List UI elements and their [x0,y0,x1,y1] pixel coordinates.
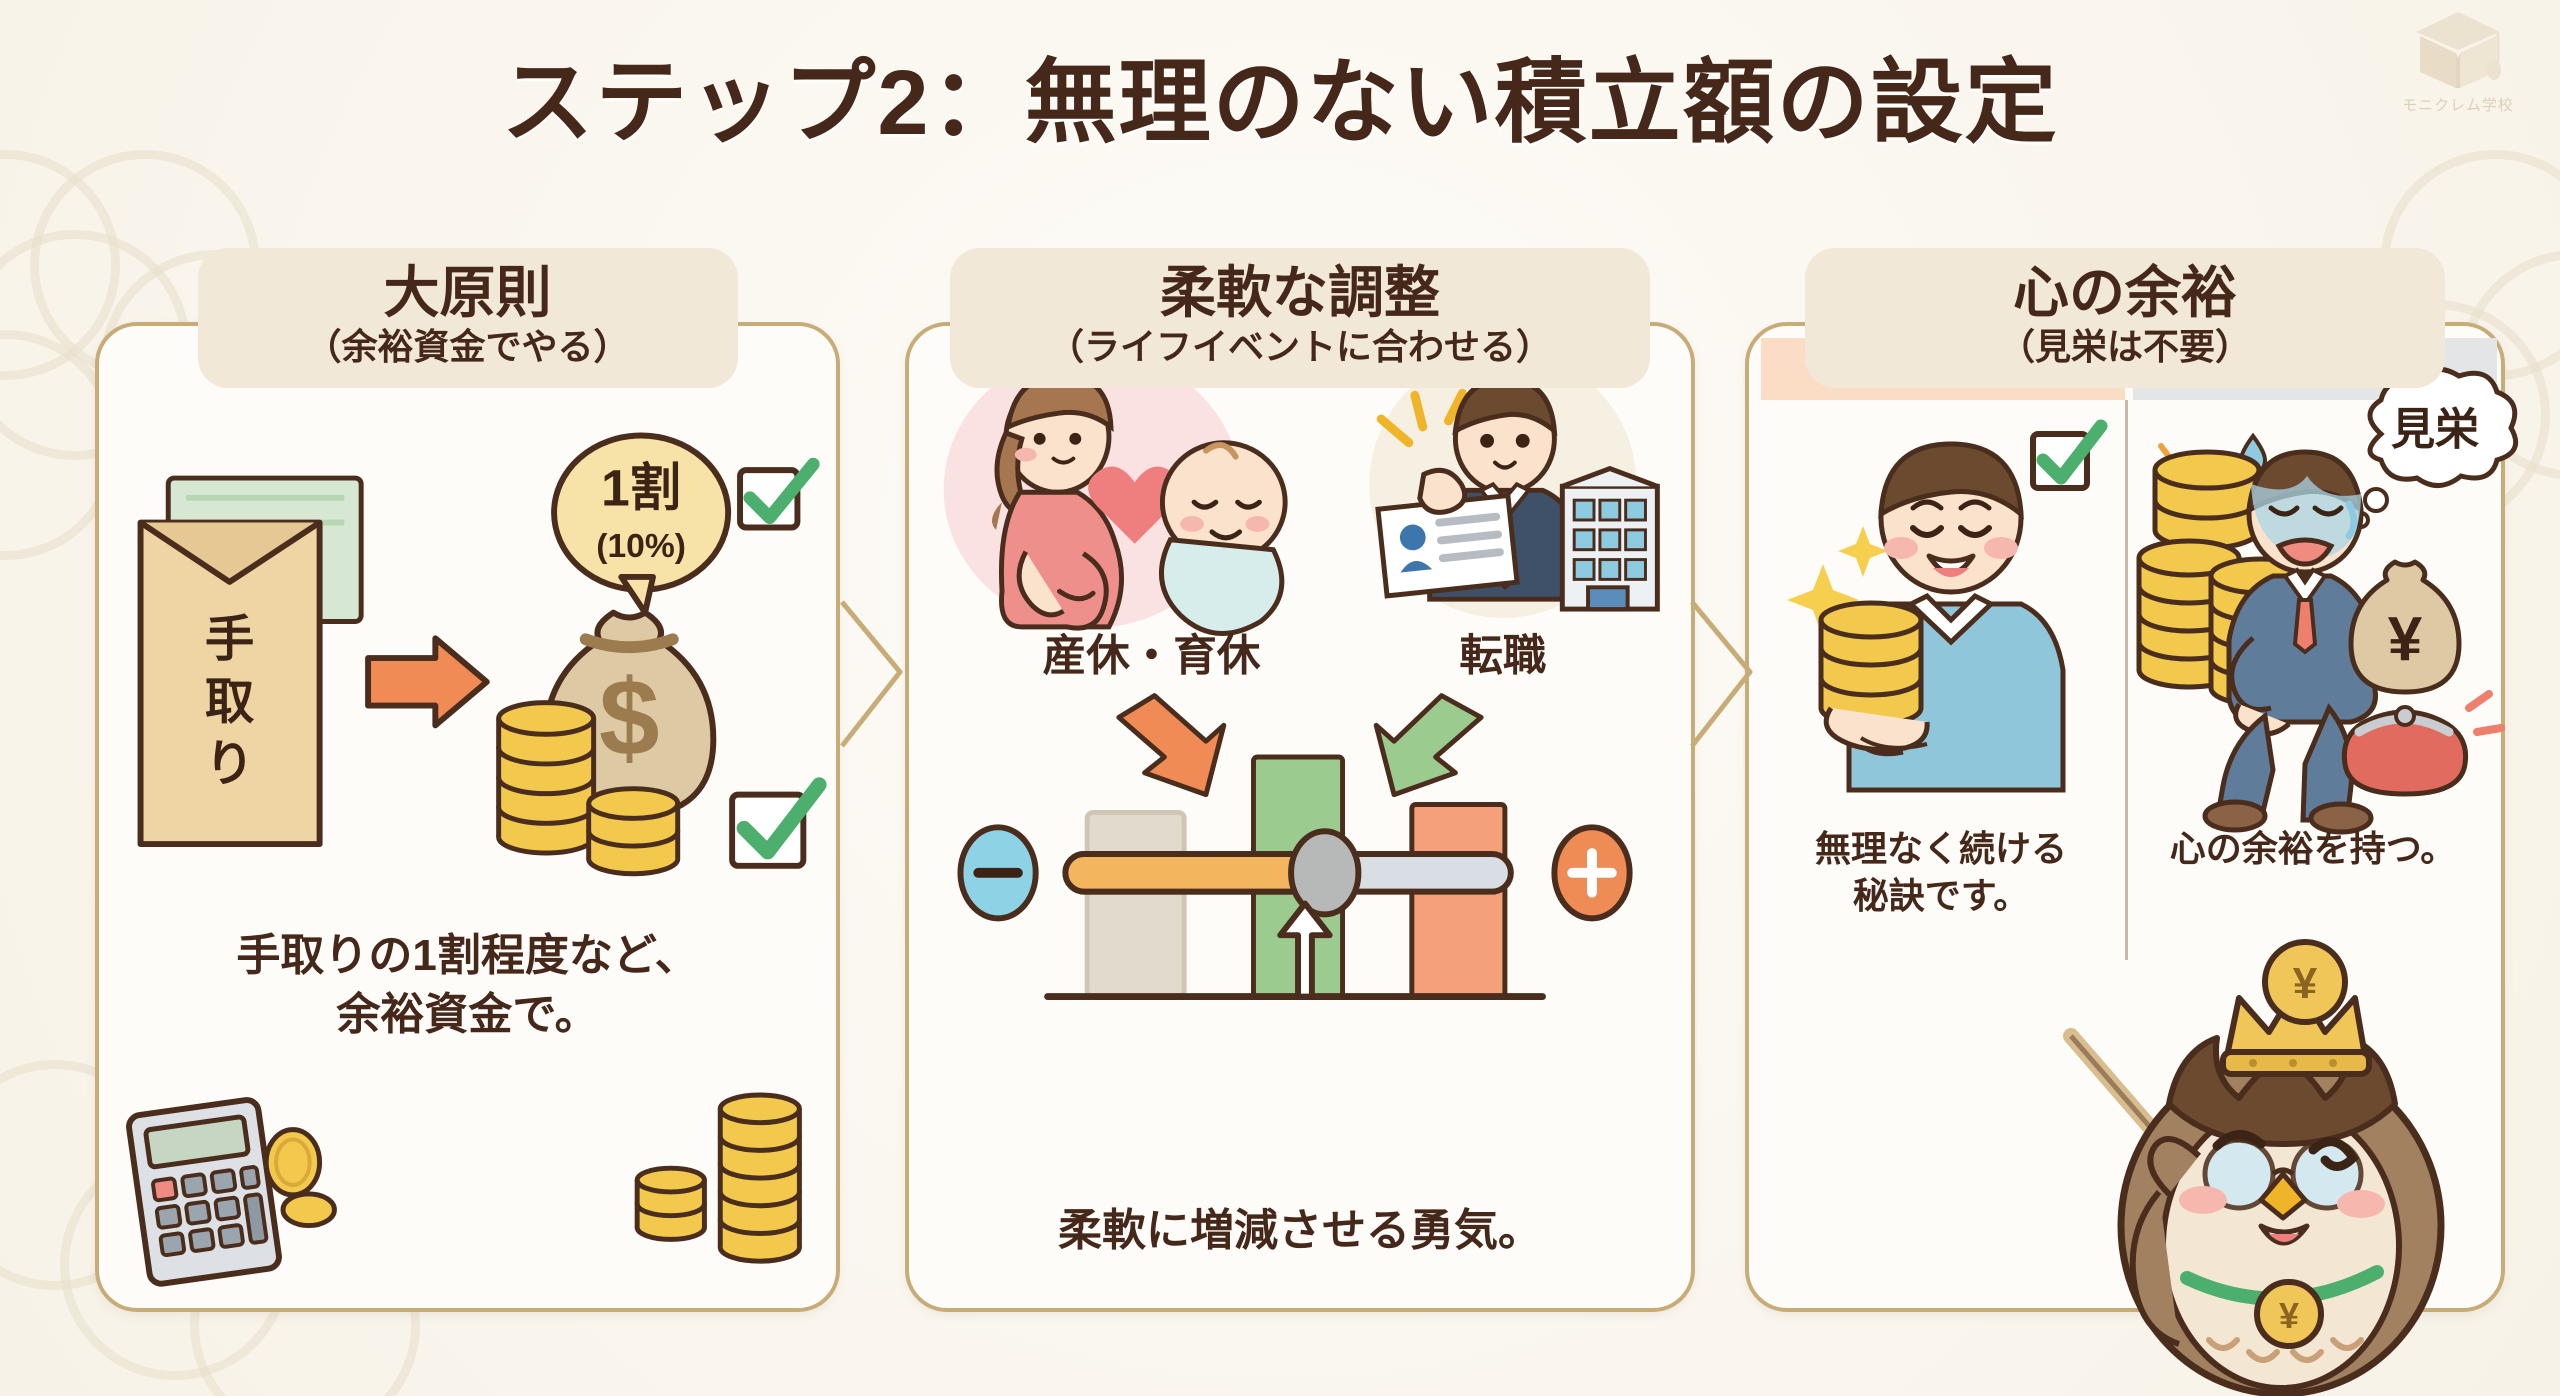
orange-arrow-icon [368,638,487,725]
bubble-sub-text: (10%) [596,528,686,565]
connector-arrow-2 [1690,600,1760,750]
check-box-icon [740,464,813,527]
table-divider [2125,400,2128,960]
graduation-cap-book-icon [2410,6,2506,92]
green-down-arrow-icon [1376,696,1481,795]
table-caption-ng: 心の余裕を持つ。 [2137,826,2489,873]
adjustment-slider-chart [909,686,1691,1026]
percentage-speech-bubble: 1割 (10%) [554,436,728,613]
minus-button[interactable] [960,827,1035,918]
illustration-ok [1761,408,2125,828]
card-peace-title: 心の余裕 [1845,264,2405,323]
card-flexible: 柔軟な調整 （ライフイベントに合わせる） 産 [905,322,1695,1312]
illustration-ng: 見栄 [2133,408,2497,828]
connector-arrow-1 [840,600,910,750]
baby-icon [1161,443,1285,634]
bubble-main-text: 1割 [601,459,681,517]
loose-coin-icon [266,1130,334,1226]
card-peace-header: 心の余裕 （見栄は不要） [1805,248,2445,388]
card-principle-footer-icons [99,1080,836,1290]
card-principle: 大原則 （余裕資金でやる） 手 取 り 1割 (10%) [95,322,840,1312]
card-principle-illustration: 手 取 り 1割 (10%) $ [99,426,836,906]
svg-text:¥: ¥ [2388,605,2423,674]
card-peace-of-mind: 心の余裕 （見栄は不要） ○ 無理のない範囲 × 見栄を張る [1745,322,2505,1312]
check-box-icon-2 [732,785,819,866]
crown-coin-symbol: ¥ [2293,959,2318,1008]
card-peace-subtitle: （見栄は不要） [1845,325,2405,368]
bag-symbol: $ [599,657,660,779]
envelope-with-cash-icon: 手 取 り [141,478,362,844]
bar-decrease [1412,805,1505,997]
page-title: ステップ2：無理のない積立額の設定 [0,28,2560,161]
life-event-label-left: 産休・育休 [1043,632,1261,680]
bar-current [1087,812,1184,996]
plus-button[interactable] [1554,827,1629,918]
card-principle-caption: 手取りの1割程度など、 余裕資金で。 [99,926,836,1045]
crowned-owl-teacher-icon: ¥ ¥ [2041,926,2511,1396]
card-principle-header: 大原則 （余裕資金でやる） [198,248,738,388]
logo-text: モニクレム学校 [2398,94,2518,115]
svg-text:取: 取 [205,674,255,729]
thought-bubble-text: 見栄 [2391,405,2479,454]
smiling-man-with-coins-icon [1821,444,2063,790]
money-bag-yen-icon: ¥ [2351,562,2459,692]
card-flexible-subtitle: （ライフイベントに合わせる） [990,325,1610,368]
card-principle-title: 大原則 [238,264,698,323]
life-event-label-right: 転職 [1459,632,1546,680]
card-flexible-life-events: 産休・育休 転 [909,354,1691,684]
svg-text:手: 手 [205,612,254,667]
calculator-icon [128,1099,281,1286]
crown-icon: ¥ [2223,942,2369,1074]
brand-logo: モニクレム学校 [2398,6,2518,115]
check-box-icon [2033,426,2101,488]
card-flexible-header: 柔軟な調整 （ライフイベントに合わせる） [950,248,1650,388]
svg-text:り: り [205,737,254,792]
card-flexible-title: 柔軟な調整 [990,264,1610,323]
slider-handle[interactable] [1291,831,1358,914]
table-caption-ok: 無理なく続ける 秘訣です。 [1765,826,2117,920]
owl-medallion-symbol: ¥ [2279,1295,2299,1336]
coin-stack-footer-icon [637,1095,799,1261]
orange-down-arrow-icon [1119,696,1224,795]
card-flexible-caption: 柔軟に増減させる勇気。 [909,1201,1691,1260]
card-principle-subtitle: （余裕資金でやる） [238,325,698,368]
